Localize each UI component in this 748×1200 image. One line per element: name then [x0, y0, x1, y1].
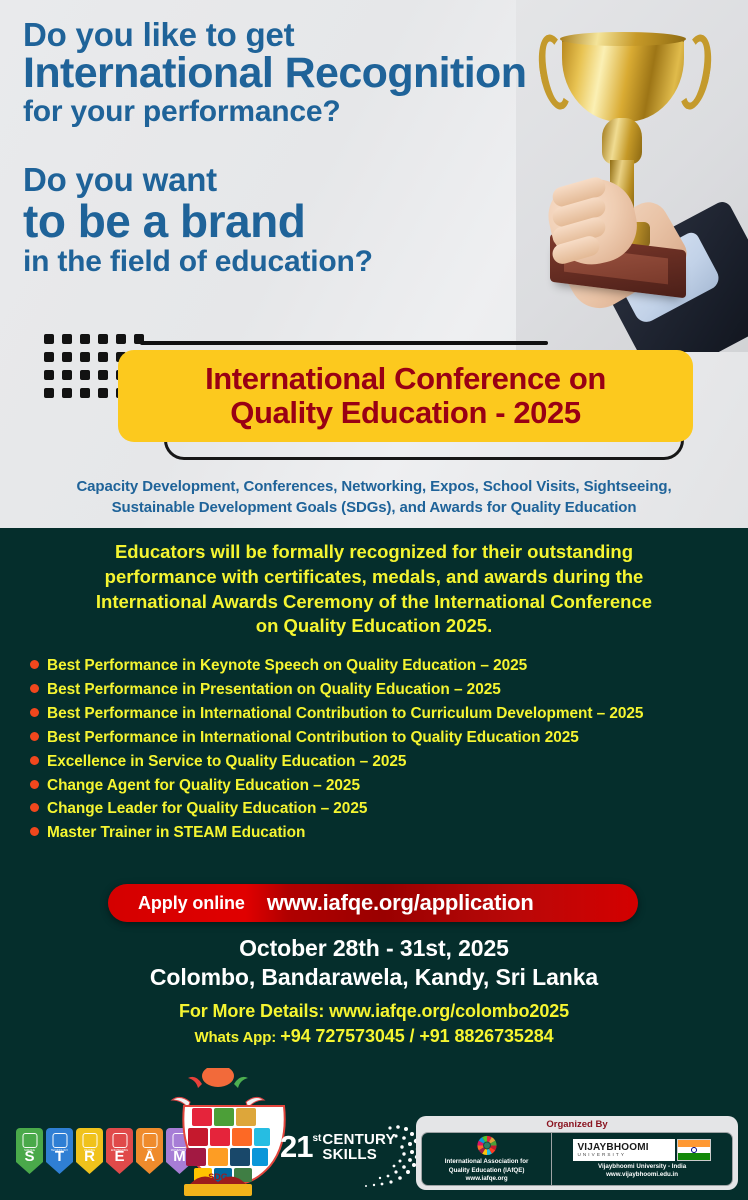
subtitle-line-1: Capacity Development, Conferences, Netwo…: [0, 476, 748, 497]
poster-root: Do you like to get International Recogni…: [0, 0, 748, 1200]
century-skills-logo: 21 st CENTURY SKILLS: [276, 1126, 416, 1184]
vijaybhoomi-sub: UNIVERSITY: [577, 1153, 648, 1158]
trophy-stem: [602, 118, 642, 164]
iafqe-name-line-2: Quality Education (IAfQE): [445, 1167, 529, 1175]
bullet-icon: [30, 684, 39, 693]
awards-section: Educators will be formally recognized fo…: [0, 528, 748, 1200]
vijaybhoomi-wordmark: VIJAYBHOOMI UNIVERSITY: [573, 1139, 674, 1161]
iafqe-website[interactable]: www.iafqe.org: [445, 1175, 529, 1183]
stream-word-r: READING: [76, 1150, 103, 1153]
intro-paragraph: Educators will be formally recognized fo…: [22, 540, 726, 639]
headline-block: Do you like to get International Recogni…: [23, 18, 543, 277]
century-word-2: SKILLS: [322, 1147, 395, 1162]
bullet-icon: [30, 827, 39, 836]
century-word-1: CENTURY: [322, 1132, 395, 1147]
organized-by-box: Organized By: [416, 1116, 738, 1190]
whatsapp-contact: Whats App: +94 727573045 / +91 882673528…: [0, 1024, 748, 1049]
list-item: Change Agent for Quality Education – 202…: [30, 776, 742, 795]
conference-title-banner: International Conference on Quality Educ…: [118, 350, 693, 442]
award-label: Master Trainer in STEAM Education: [47, 823, 305, 842]
organizer-vijaybhoomi: VIJAYBHOOMI UNIVERSITY: [552, 1133, 732, 1185]
intro-line-3: International Awards Ceremony of the Int…: [22, 590, 726, 615]
subtitle-line-2: Sustainable Development Goals (SDGs), an…: [0, 497, 748, 518]
award-label: Best Performance in Presentation on Qual…: [47, 680, 501, 699]
organized-by-title: Organized By: [421, 1118, 733, 1132]
century-number: 21: [280, 1132, 312, 1161]
award-label: Excellence in Service to Quality Educati…: [47, 752, 406, 771]
bullet-icon: [30, 756, 39, 765]
science-icon: [22, 1133, 37, 1148]
stream-word-t: TECHNOLOGY: [46, 1150, 73, 1153]
awards-list: Best Performance in Keynote Speech on Qu…: [30, 656, 742, 847]
conference-title-line-1: International Conference on: [205, 362, 606, 396]
headline-line-6: in the field of education?: [23, 247, 543, 277]
intro-line-1: Educators will be formally recognized fo…: [22, 540, 726, 565]
trophy-photo: [516, 0, 748, 352]
stream-badge-e: ENGINEERING E: [106, 1128, 133, 1174]
list-item: Master Trainer in STEAM Education: [30, 823, 742, 842]
headline-line-5: to be a brand: [23, 198, 543, 244]
bullet-icon: [30, 708, 39, 717]
venue-block: October 28th - 31st, 2025 Colombo, Banda…: [0, 934, 748, 1049]
award-label: Best Performance in International Contri…: [47, 704, 643, 723]
whatsapp-label: Whats App:: [194, 1029, 276, 1046]
vijaybhoomi-caption: Vijaybhoomi University - India www.vijay…: [598, 1163, 686, 1180]
vijaybhoomi-logo: VIJAYBHOOMI UNIVERSITY: [573, 1139, 710, 1161]
award-label: Change Agent for Quality Education – 202…: [47, 776, 360, 795]
century-wordmark: 21 st CENTURY SKILLS: [280, 1132, 396, 1162]
technology-icon: [52, 1133, 67, 1148]
stream-word-e: ENGINEERING: [106, 1150, 133, 1153]
list-item: Best Performance in Keynote Speech on Qu…: [30, 656, 742, 675]
sdg-pot-icon: SDG: [150, 1068, 286, 1200]
event-location: Colombo, Bandarawela, Kandy, Sri Lanka: [0, 963, 748, 992]
headline-spacer: [23, 127, 543, 163]
organizers-row: International Association for Quality Ed…: [421, 1132, 733, 1186]
headline-line-1: Do you like to get: [23, 18, 543, 51]
award-label: Best Performance in International Contri…: [47, 728, 579, 747]
vijaybhoomi-website[interactable]: www.vijaybhoomi.edu.in: [598, 1171, 686, 1179]
sdg-caption: SDG: [208, 1172, 228, 1182]
horizontal-rule: [140, 341, 548, 345]
intro-line-4: on Quality Education 2025.: [22, 614, 726, 639]
stream-badge-r: READING R: [76, 1128, 103, 1174]
conference-title-line-2: Quality Education - 2025: [230, 396, 580, 430]
list-item: Change Leader for Quality Education – 20…: [30, 799, 742, 818]
bullet-icon: [30, 660, 39, 669]
headline-line-3: for your performance?: [23, 97, 543, 127]
vijaybhoomi-name-line-1: Vijaybhoomi University - India: [598, 1163, 686, 1171]
subtitle-block: Capacity Development, Conferences, Netwo…: [0, 476, 748, 519]
bullet-icon: [30, 803, 39, 812]
stream-badge-s: SCIENCE S: [16, 1128, 43, 1174]
header-section: Do you like to get International Recogni…: [0, 0, 748, 528]
stream-word-s: SCIENCE: [16, 1150, 43, 1153]
bullet-icon: [30, 780, 39, 789]
apply-online-label: Apply online: [138, 893, 245, 914]
century-suffix: st: [312, 1133, 321, 1144]
reading-icon: [82, 1133, 97, 1148]
award-label: Best Performance in Keynote Speech on Qu…: [47, 656, 527, 675]
iafqe-wheel-icon: [475, 1135, 499, 1156]
bullet-icon: [30, 732, 39, 741]
iafqe-caption: International Association for Quality Ed…: [445, 1158, 529, 1183]
more-details-link[interactable]: For More Details: www.iafqe.org/colombo2…: [0, 999, 748, 1024]
list-item: Best Performance in Presentation on Qual…: [30, 680, 742, 699]
list-item: Best Performance in International Contri…: [30, 728, 742, 747]
event-date: October 28th - 31st, 2025: [0, 934, 748, 963]
india-flag-icon: [677, 1139, 711, 1161]
trophy-bowl: [562, 36, 684, 122]
whatsapp-numbers[interactable]: +94 727573045 / +91 8826735284: [280, 1026, 553, 1046]
engineering-icon: [112, 1133, 127, 1148]
headline-line-4: Do you want: [23, 163, 543, 196]
award-label: Change Leader for Quality Education – 20…: [47, 799, 367, 818]
trophy-rim: [560, 32, 686, 46]
list-item: Best Performance in International Contri…: [30, 704, 742, 723]
apply-online-button[interactable]: Apply online www.iafqe.org/application: [108, 884, 638, 922]
headline-line-2: International Recognition: [23, 52, 543, 95]
list-item: Excellence in Service to Quality Educati…: [30, 752, 742, 771]
sdg-goals-pot-logo: SDG: [150, 1068, 286, 1200]
iafqe-name-line-1: International Association for: [445, 1158, 529, 1166]
apply-online-url[interactable]: www.iafqe.org/application: [267, 890, 534, 916]
intro-line-2: performance with certificates, medals, a…: [22, 565, 726, 590]
stream-badge-t: TECHNOLOGY T: [46, 1128, 73, 1174]
organizer-iafqe: International Association for Quality Ed…: [422, 1133, 552, 1185]
